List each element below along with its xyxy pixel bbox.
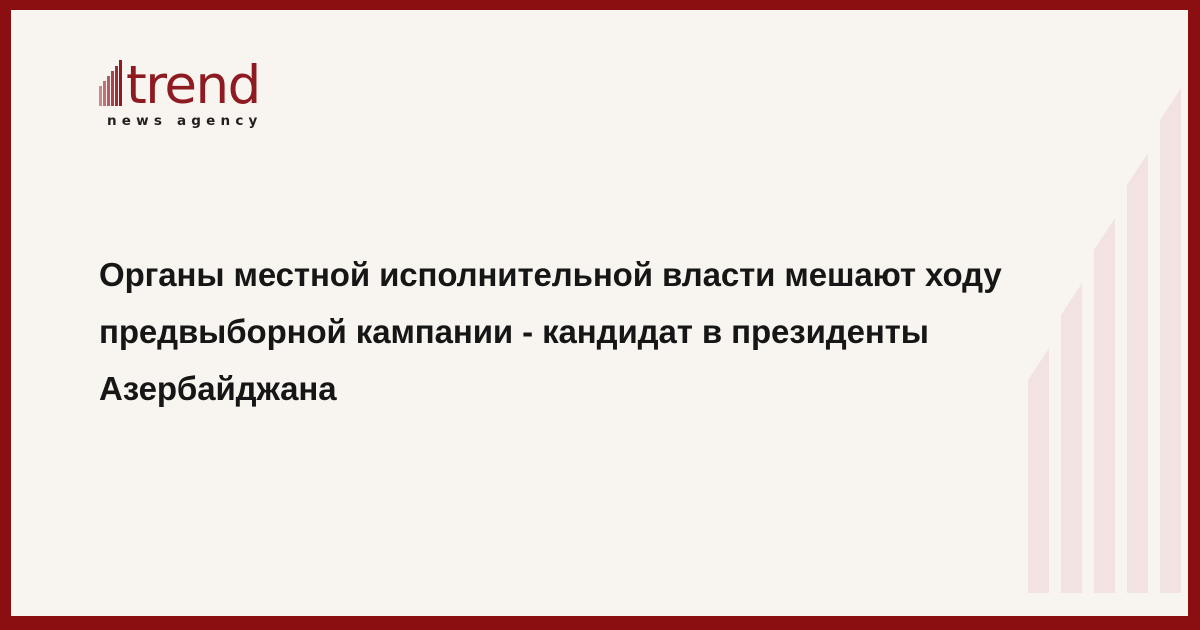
watermark-bar-4 [1127, 153, 1148, 593]
logo-bar-4 [111, 71, 114, 106]
headline-title: Органы местной исполнительной власти меш… [99, 246, 1074, 417]
social-share-card: trend news agency Органы местной исполни… [0, 0, 1200, 630]
trend-news-agency-logo[interactable]: trend news agency [99, 50, 359, 140]
logo-bar-6 [119, 60, 122, 106]
logo-bar-2 [103, 81, 106, 106]
logo-bar-5 [115, 66, 118, 106]
watermark-bar-3 [1094, 218, 1115, 593]
watermark-bar-5 [1160, 88, 1181, 593]
logo-wordmark-row: trend [99, 50, 359, 106]
logo-bar-3 [107, 76, 110, 106]
trend-bars-logo-icon [99, 60, 125, 106]
logo-wordmark-text: trend [126, 63, 260, 109]
card-canvas: trend news agency Органы местной исполни… [11, 10, 1188, 616]
logo-bar-1 [99, 86, 102, 106]
